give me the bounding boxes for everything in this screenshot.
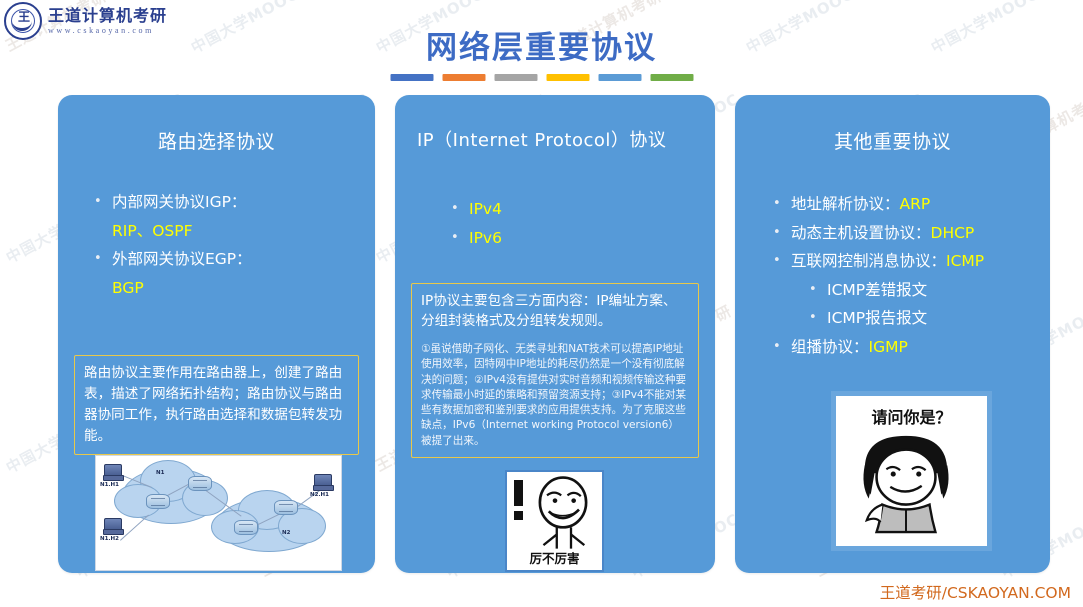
cloud-label-n2: N2: [282, 530, 290, 536]
brand-logo: 王 王道计算机考研 www.cskaoyan.com: [4, 2, 167, 40]
logo-emblem-icon: 王: [4, 2, 42, 40]
meme-image-lihaibuhai: 厉不厉害: [505, 470, 604, 572]
list-item: 动态主机设置协议：DHCP: [771, 219, 1050, 248]
router-icon: [234, 520, 258, 535]
meme-caption: 厉不厉害: [507, 548, 602, 567]
panel-ip-protocol: IP（Internet Protocol）协议 IPv4 IPv6 IP协议主要…: [395, 95, 715, 573]
host-icon: [104, 464, 122, 479]
panel-title-routing: 路由选择协议: [58, 130, 375, 154]
sub-bullet-text: ICMP差错报文: [827, 281, 927, 299]
bullet-list-routing: 内部网关协议IGP： RIP、OSPF 外部网关协议EGP： BGP: [58, 188, 375, 302]
footer-brand: 王道考研/CSKAOYAN.COM: [880, 581, 1071, 603]
bullet-text: 内部网关协议IGP：: [112, 193, 246, 211]
note-body: ①虽说借助子网化、无类寻址和NAT技术可以提高IP地址使用效率，因特网中IP地址…: [421, 342, 689, 449]
list-item: IPv6: [449, 224, 715, 253]
bullet-label: 组播协议：: [791, 338, 869, 356]
bullet-label: 地址解析协议：: [791, 195, 900, 213]
bullet-list-ip: IPv4 IPv6: [395, 195, 715, 252]
accent-bar-3: [494, 74, 537, 81]
bullet-label: 互联网控制消息协议：: [791, 252, 946, 270]
accent-bar-4: [546, 74, 589, 81]
bullet-text: IPv6: [469, 229, 502, 247]
bullet-list-other: 地址解析协议：ARP 动态主机设置协议：DHCP 互联网控制消息协议：ICMP: [735, 190, 1050, 276]
list-item: 内部网关协议IGP： RIP、OSPF: [92, 188, 375, 245]
accent-bar-1: [390, 74, 433, 81]
logo-url-text: www.cskaoyan.com: [48, 25, 167, 36]
bullet-text: 外部网关协议EGP：: [112, 250, 252, 268]
bullet-value: IGMP: [869, 338, 908, 356]
router-icon: [146, 494, 170, 509]
list-item: 外部网关协议EGP： BGP: [92, 245, 375, 302]
watermark-text: 中国大学MOOC: [0, 508, 2, 583]
panel-title-ip: IP（Internet Protocol）协议: [395, 129, 715, 153]
note-box-routing: 路由协议主要作用在路由器上，创建了路由表，描述了网络拓扑结构；路由协议与路由器协…: [74, 355, 359, 455]
accent-bar-5: [598, 74, 641, 81]
bullet-value: ARP: [900, 195, 931, 213]
bullet-detail: RIP、OSPF: [112, 217, 375, 246]
host-icon: [314, 474, 332, 489]
accent-bar-2: [442, 74, 485, 81]
cloud-label-n1: N1: [156, 470, 164, 476]
network-topology-diagram: N1 N2 N1.H1 N1.H2 N2.H1: [95, 455, 342, 571]
panel-other-protocols: 其他重要协议 地址解析协议：ARP 动态主机设置协议：DHCP 互联网控制消息协…: [735, 95, 1050, 573]
panel-title-other: 其他重要协议: [735, 130, 1050, 154]
accent-bar-group: [390, 74, 693, 81]
sub-bullet-list-icmp: ICMP差错报文 ICMP报告报文: [735, 276, 1050, 333]
host-label: N1.H1: [100, 482, 119, 488]
list-item: 地址解析协议：ARP: [771, 190, 1050, 219]
router-icon: [188, 476, 212, 491]
list-item: 互联网控制消息协议：ICMP: [771, 247, 1050, 276]
bullet-label: 动态主机设置协议：: [791, 224, 931, 242]
host-label: N2.H1: [310, 492, 329, 498]
meme-caption: 请问你是？: [836, 404, 987, 428]
slide-canvas: 中国大学MOOC中国大学MOOC王道计算机考研中国大学MOOC中国大学MOOC王…: [0, 0, 1083, 607]
host-icon: [104, 518, 122, 533]
accent-bar-6: [650, 74, 693, 81]
router-icon: [274, 500, 298, 515]
logo-brand-text: 王道计算机考研: [48, 7, 167, 24]
list-item: 组播协议：IGMP: [771, 333, 1050, 362]
watermark-text: 中国大学MOOC: [0, 298, 2, 373]
note-box-ip: IP协议主要包含三方面内容：IP编址方案、分组封装格式及分组转发规则。 ①虽说借…: [411, 283, 699, 458]
list-item: IPv4: [449, 195, 715, 224]
list-item: ICMP报告报文: [807, 304, 1050, 333]
bullet-text: IPv4: [469, 200, 502, 218]
logo-swoosh-icon: [12, 19, 32, 31]
sub-bullet-text: ICMP报告报文: [827, 309, 927, 327]
bullet-value: DHCP: [931, 224, 975, 242]
bullet-detail: BGP: [112, 274, 375, 303]
host-label: N1.H2: [100, 536, 119, 542]
bullet-list-igmp: 组播协议：IGMP: [735, 333, 1050, 362]
note-head: IP协议主要包含三方面内容：IP编址方案、分组封装格式及分组转发规则。: [421, 291, 689, 331]
panel-routing-protocols: 路由选择协议 内部网关协议IGP： RIP、OSPF 外部网关协议EGP： BG…: [58, 95, 375, 573]
bullet-value: ICMP: [946, 252, 984, 270]
list-item: ICMP差错报文: [807, 276, 1050, 305]
meme-image-qingwennishi: 请问你是？: [831, 391, 992, 551]
